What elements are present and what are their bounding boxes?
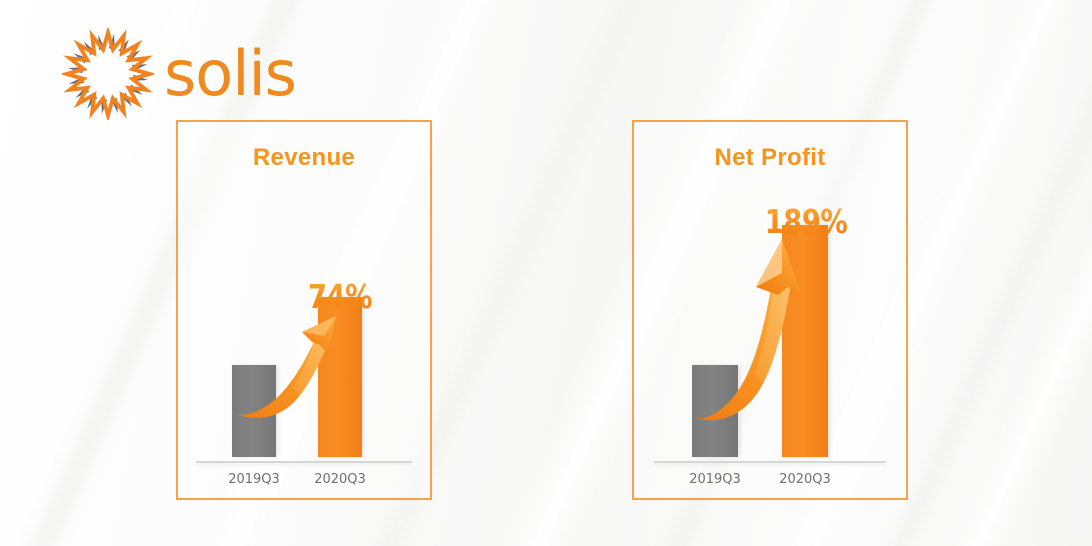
growth-arrow-icon	[682, 227, 822, 427]
chart-baseline	[196, 461, 412, 463]
tick-label-2020q3: 2020Q3	[304, 472, 376, 487]
growth-arrow-icon	[224, 302, 354, 422]
value-label-2020q3: 74%	[307, 277, 373, 316]
value-label-2020q3: 189%	[764, 202, 849, 241]
chart-baseline	[654, 461, 886, 463]
tick-label-2020q3: 2020Q3	[769, 472, 841, 487]
chart-plot-revenue: 74% 2019Q3 2020Q3	[178, 122, 430, 498]
chart-panel-revenue: Revenue	[176, 120, 432, 500]
chart-panel-netprofit: Net Profit	[632, 120, 908, 500]
chart-plot-netprofit: 189% 2019Q3 2020Q3	[634, 122, 906, 498]
tick-label-2019q3: 2019Q3	[679, 472, 751, 487]
tick-label-2019q3: 2019Q3	[218, 472, 290, 487]
brand-logo: solis	[62, 28, 296, 120]
sun-burst-icon	[62, 28, 154, 120]
brand-wordmark: solis	[164, 43, 296, 105]
